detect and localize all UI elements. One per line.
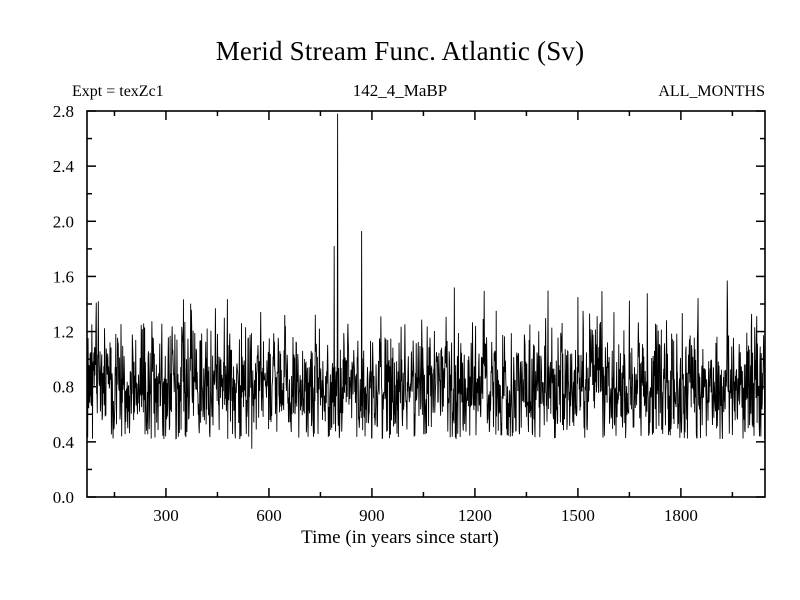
x-tick-label: 300: [153, 506, 179, 525]
data-series-group: [87, 114, 765, 449]
plot-figure: Merid Stream Func. Atlantic (Sv) Expt = …: [0, 0, 800, 600]
y-tick-label: 2.4: [53, 157, 75, 176]
y-tick-label: 2.8: [53, 102, 74, 121]
y-tick-label: 1.6: [53, 267, 74, 286]
data-line-series: [87, 114, 765, 449]
y-tick-label: 0.4: [53, 433, 75, 452]
x-tick-label: 1500: [561, 506, 595, 525]
y-tick-label: 0.8: [53, 378, 74, 397]
plot-frame: [87, 111, 765, 497]
chart-canvas: 3006009001200150018000.00.40.81.21.62.02…: [0, 0, 800, 600]
x-tick-label: 1200: [458, 506, 492, 525]
x-tick-label: 1800: [664, 506, 698, 525]
x-tick-label: 900: [359, 506, 385, 525]
x-axis-label: Time (in years since start): [0, 527, 800, 549]
y-tick-label: 0.0: [53, 488, 74, 507]
axes-group: 3006009001200150018000.00.40.81.21.62.02…: [53, 102, 765, 525]
y-tick-label: 1.2: [53, 323, 74, 342]
x-tick-label: 600: [256, 506, 282, 525]
y-tick-label: 2.0: [53, 212, 74, 231]
